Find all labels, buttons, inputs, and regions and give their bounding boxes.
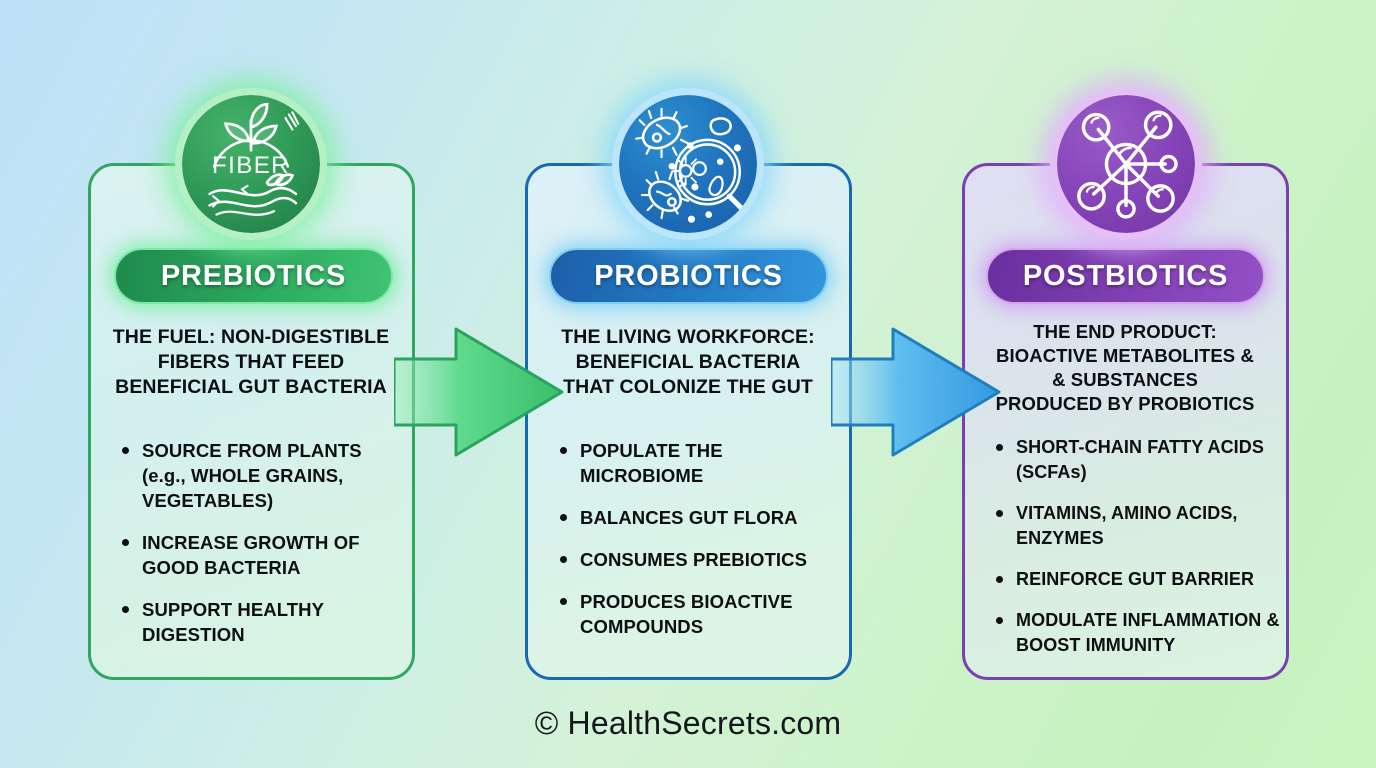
list-item: MODULATE INFLAMMATION & BOOST IMMUNITY xyxy=(992,608,1280,658)
panel-description-probiotics: THE LIVING WORKFORCE: BENEFICIAL BACTERI… xyxy=(538,325,838,400)
panel-title-text: POSTBIOTICS xyxy=(1023,260,1228,293)
list-item: SOURCE FROM PLANTS (e.g., WHOLE GRAINS, … xyxy=(118,438,406,513)
description-line: BENEFICIAL GUT BACTERIA xyxy=(101,375,401,400)
description-line: BENEFICIAL BACTERIA xyxy=(538,350,838,375)
panel-title-text: PREBIOTICS xyxy=(161,260,346,293)
list-item: PRODUCES BIOACTIVE COMPOUNDS xyxy=(556,589,844,639)
arrow-prebiotics-to-probiotics xyxy=(394,307,567,477)
list-item: SHORT-CHAIN FATTY ACIDS (SCFAs) xyxy=(992,435,1280,485)
fiber-plant-icon: FIBER xyxy=(175,88,327,240)
list-item: INCREASE GROWTH OF GOOD BACTERIA xyxy=(118,530,406,580)
list-item: CONSUMES PREBIOTICS xyxy=(556,547,844,572)
icon-ring xyxy=(175,88,327,240)
description-line: FIBERS THAT FEED xyxy=(101,350,401,375)
description-line: THE END PRODUCT: xyxy=(975,320,1275,344)
bullet-list-probiotics: POPULATE THE MICROBIOME BALANCES GUT FLO… xyxy=(556,438,844,656)
panel-title-text: PROBIOTICS xyxy=(594,260,782,293)
list-item: SUPPORT HEALTHY DIGESTION xyxy=(118,597,406,647)
panel-description-prebiotics: THE FUEL: NON-DIGESTIBLE FIBERS THAT FEE… xyxy=(101,325,401,400)
list-item: REINFORCE GUT BARRIER xyxy=(992,567,1280,592)
panel-title-prebiotics: PREBIOTICS xyxy=(114,248,393,304)
description-line: & SUBSTANCES xyxy=(975,368,1275,392)
description-line: BIOACTIVE METABOLITES & xyxy=(975,344,1275,368)
panel-title-postbiotics: POSTBIOTICS xyxy=(986,248,1265,304)
infographic-canvas: FIBER xyxy=(0,0,1376,768)
icon-ring xyxy=(612,88,764,240)
icon-ring xyxy=(1050,88,1202,240)
description-line: THE LIVING WORKFORCE: xyxy=(538,325,838,350)
list-item: BALANCES GUT FLORA xyxy=(556,505,844,530)
arrow-probiotics-to-postbiotics xyxy=(831,307,1004,477)
molecule-network-icon xyxy=(1050,88,1202,240)
bullet-list-prebiotics: SOURCE FROM PLANTS (e.g., WHOLE GRAINS, … xyxy=(118,438,406,664)
list-item: POPULATE THE MICROBIOME xyxy=(556,438,844,488)
description-line: PRODUCED BY PROBIOTICS xyxy=(975,392,1275,416)
panel-title-probiotics: PROBIOTICS xyxy=(549,248,828,304)
bullet-list-postbiotics: SHORT-CHAIN FATTY ACIDS (SCFAs) VITAMINS… xyxy=(992,435,1280,674)
bacteria-magnifier-icon xyxy=(612,88,764,240)
panel-description-postbiotics: THE END PRODUCT: BIOACTIVE METABOLITES &… xyxy=(975,320,1275,416)
list-item: VITAMINS, AMINO ACIDS, ENZYMES xyxy=(992,501,1280,551)
description-line: THAT COLONIZE THE GUT xyxy=(538,375,838,400)
description-line: THE FUEL: NON-DIGESTIBLE xyxy=(101,325,401,350)
footer-copyright: © HealthSecrets.com xyxy=(0,705,1376,742)
